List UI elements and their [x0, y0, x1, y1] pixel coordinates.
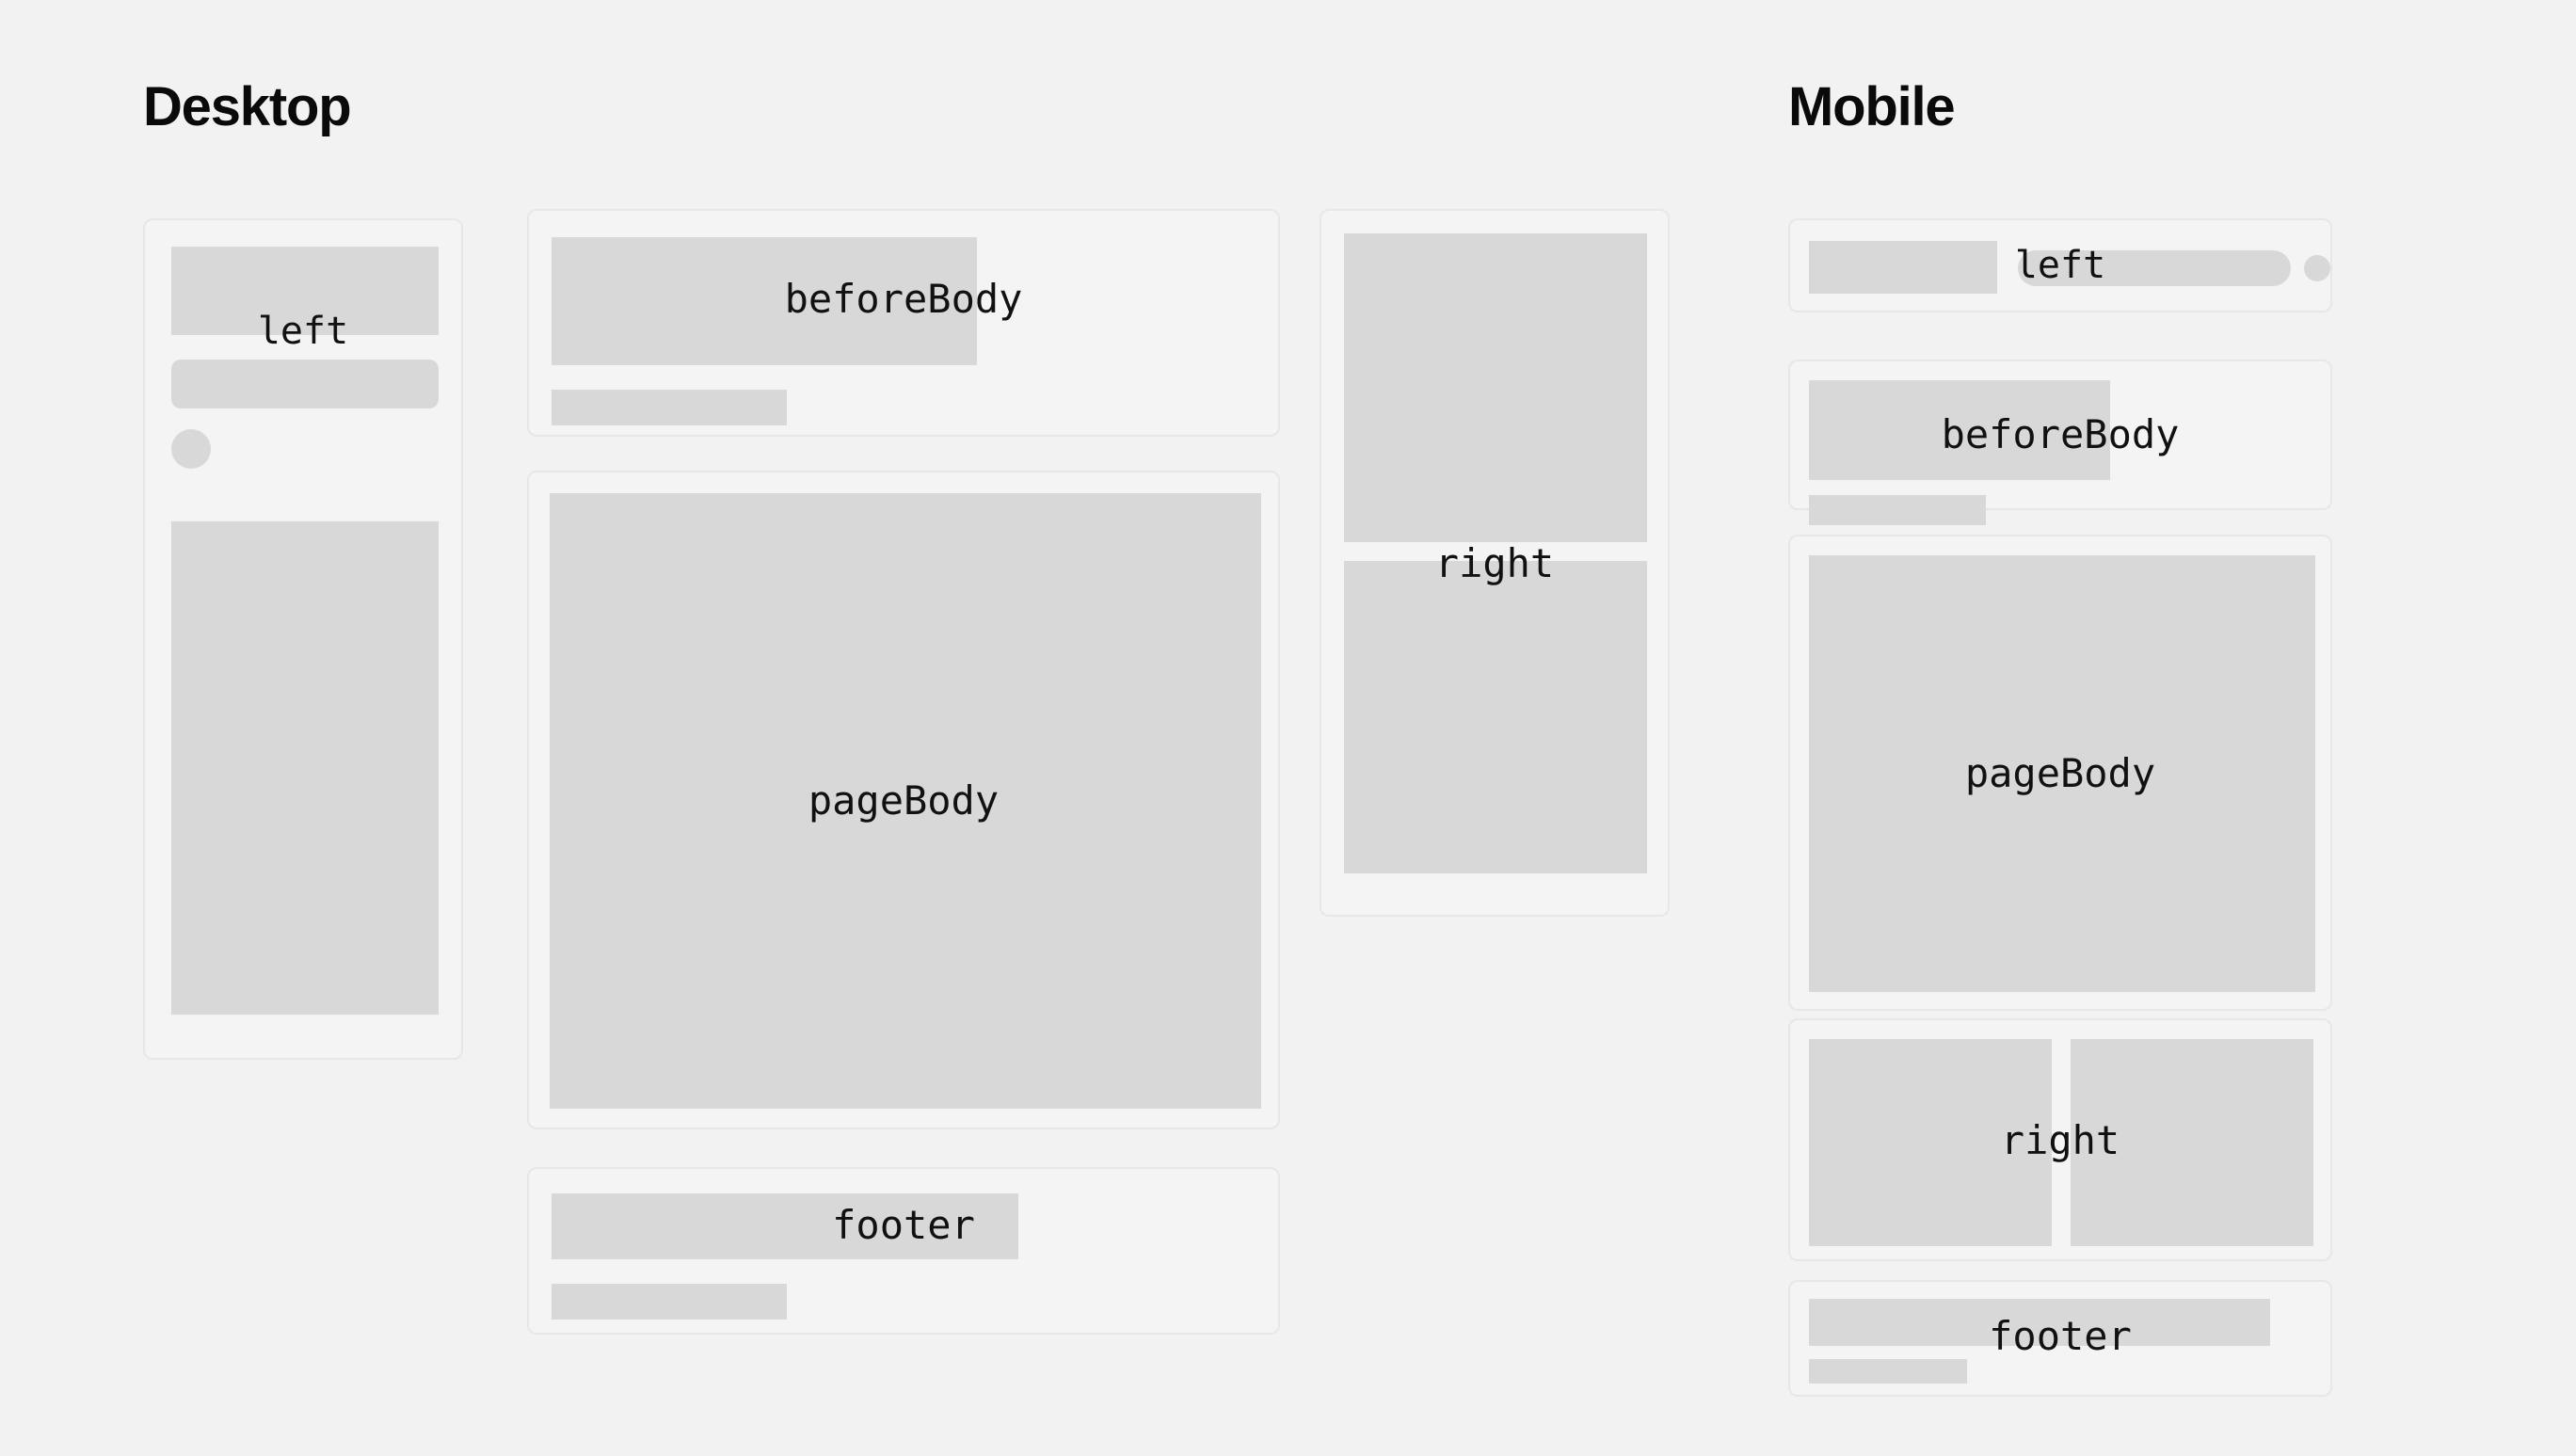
mobile-left-slot-panel[interactable]: [1788, 218, 2332, 312]
mobile-beforebody-slot-panel[interactable]: [1788, 360, 2332, 510]
mobile-footer-placeholder-block: [1809, 1299, 2270, 1346]
mobile-beforebody-placeholder-block: [1809, 380, 2110, 480]
desktop-right-placeholder-block-2: [1344, 561, 1647, 873]
mobile-footer-slot-panel[interactable]: [1788, 1280, 2332, 1397]
mobile-section-title: Mobile: [1788, 80, 1954, 135]
desktop-beforebody-placeholder-block: [552, 237, 977, 365]
mobile-pagebody-slot-panel[interactable]: [1788, 535, 2332, 1011]
desktop-left-placeholder-circle-icon: [171, 429, 211, 469]
desktop-left-slot-panel[interactable]: [143, 218, 463, 1060]
mobile-left-placeholder-bar: [2018, 250, 2291, 286]
desktop-beforebody-slot-panel[interactable]: [527, 209, 1280, 437]
layout-comparison-canvas: Desktop left beforeBody pageBody footer …: [0, 0, 2576, 1456]
desktop-left-placeholder-block-1: [171, 247, 439, 335]
desktop-right-slot-panel[interactable]: [1320, 209, 1670, 917]
desktop-pagebody-placeholder-block: [550, 493, 1261, 1109]
mobile-beforebody-placeholder-bar: [1809, 495, 1986, 525]
mobile-right-placeholder-block-2: [2071, 1039, 2313, 1246]
desktop-footer-placeholder-bar: [552, 1284, 787, 1320]
mobile-pagebody-placeholder-block: [1809, 555, 2315, 992]
desktop-left-placeholder-block-2: [171, 521, 439, 1015]
desktop-left-placeholder-bar: [171, 360, 439, 408]
mobile-left-placeholder-circle-icon: [2304, 255, 2330, 281]
desktop-footer-placeholder-block: [552, 1193, 1018, 1259]
desktop-section-title: Desktop: [143, 80, 350, 135]
desktop-pagebody-slot-panel[interactable]: [527, 471, 1280, 1129]
mobile-footer-placeholder-bar: [1809, 1359, 1967, 1384]
mobile-left-placeholder-block: [1809, 241, 1997, 294]
desktop-right-placeholder-block-1: [1344, 233, 1647, 542]
desktop-footer-slot-panel[interactable]: [527, 1167, 1280, 1335]
mobile-right-slot-panel[interactable]: [1788, 1018, 2332, 1261]
mobile-right-placeholder-block-1: [1809, 1039, 2052, 1246]
desktop-beforebody-placeholder-bar: [552, 390, 787, 425]
